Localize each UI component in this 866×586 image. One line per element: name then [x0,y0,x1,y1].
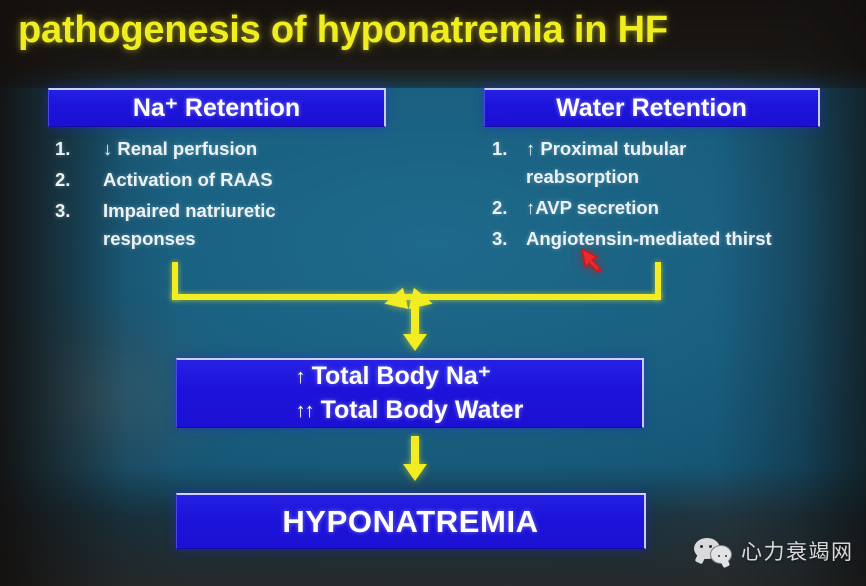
list-item: 2. ↑AVP secretion [492,194,842,222]
list-item: 3. Impaired natriuretic responses [55,197,385,253]
total-body-water-label: Total Body Water [321,396,524,424]
total-body-sodium-label: Total Body Na⁺ [312,362,491,390]
list-item: 3. Angiotensin-mediated thirst [492,225,842,253]
list-item-number: 1. [55,135,103,163]
list-item-text: Angiotensin-mediated thirst [526,225,842,253]
list-item-number: 3. [492,225,526,253]
hyponatremia-box: HYPONATREMIA [176,493,646,549]
watermark-text: 心力衰竭网 [741,536,854,566]
water-retention-list: 1. ↑ Proximal tubular reabsorption 2. ↑A… [492,135,842,256]
list-item-number: 1. [492,135,526,191]
list-item-number: 2. [492,194,526,222]
list-item-text: Impaired natriuretic responses [103,197,385,253]
na-retention-list: 1. ↓ Renal perfusion 2. Activation of RA… [55,135,385,256]
list-item: 1. ↓ Renal perfusion [55,135,385,163]
hyponatremia-label: HYPONATREMIA [282,504,538,540]
total-body-box: ↑ Total Body Na⁺ ↑↑ Total Body Water [176,358,644,428]
connector-down-arrow-stem [411,300,419,338]
na-retention-heading-box: Na⁺ Retention [48,88,386,127]
red-laser-arrow-icon [578,244,612,274]
list-item-text: ↑AVP secretion [526,194,842,222]
total-body-lines: ↑ Total Body Na⁺ ↑↑ Total Body Water [296,361,524,427]
list-item: 2. Activation of RAAS [55,166,385,194]
list-item-text: Activation of RAAS [103,166,385,194]
list-item-number: 2. [55,166,103,194]
double-up-arrow-icon: ↑↑ [296,400,314,422]
list-item-text: ↓ Renal perfusion [103,135,385,163]
total-body-water-line: ↑↑ Total Body Water [296,395,524,427]
water-retention-heading-label: Water Retention [556,94,747,123]
slide-canvas: pathogenesis of hyponatremia in HF Na⁺ R… [0,0,866,586]
na-retention-heading-label: Na⁺ Retention [133,93,300,123]
watermark: 心力衰竭网 [694,536,854,566]
list-item: 1. ↑ Proximal tubular reabsorption [492,135,842,191]
connector-down-arrowhead [403,334,427,351]
total-body-sodium-line: ↑ Total Body Na⁺ [296,361,491,393]
list-item-number: 3. [55,197,103,253]
wechat-icon [694,538,732,564]
list-item-text: ↑ Proximal tubular reabsorption [526,135,842,191]
final-arrowhead [403,464,427,481]
slide-title: pathogenesis of hyponatremia in HF [18,4,848,56]
water-retention-heading-box: Water Retention [484,88,820,127]
up-arrow-icon: ↑ [296,366,305,388]
